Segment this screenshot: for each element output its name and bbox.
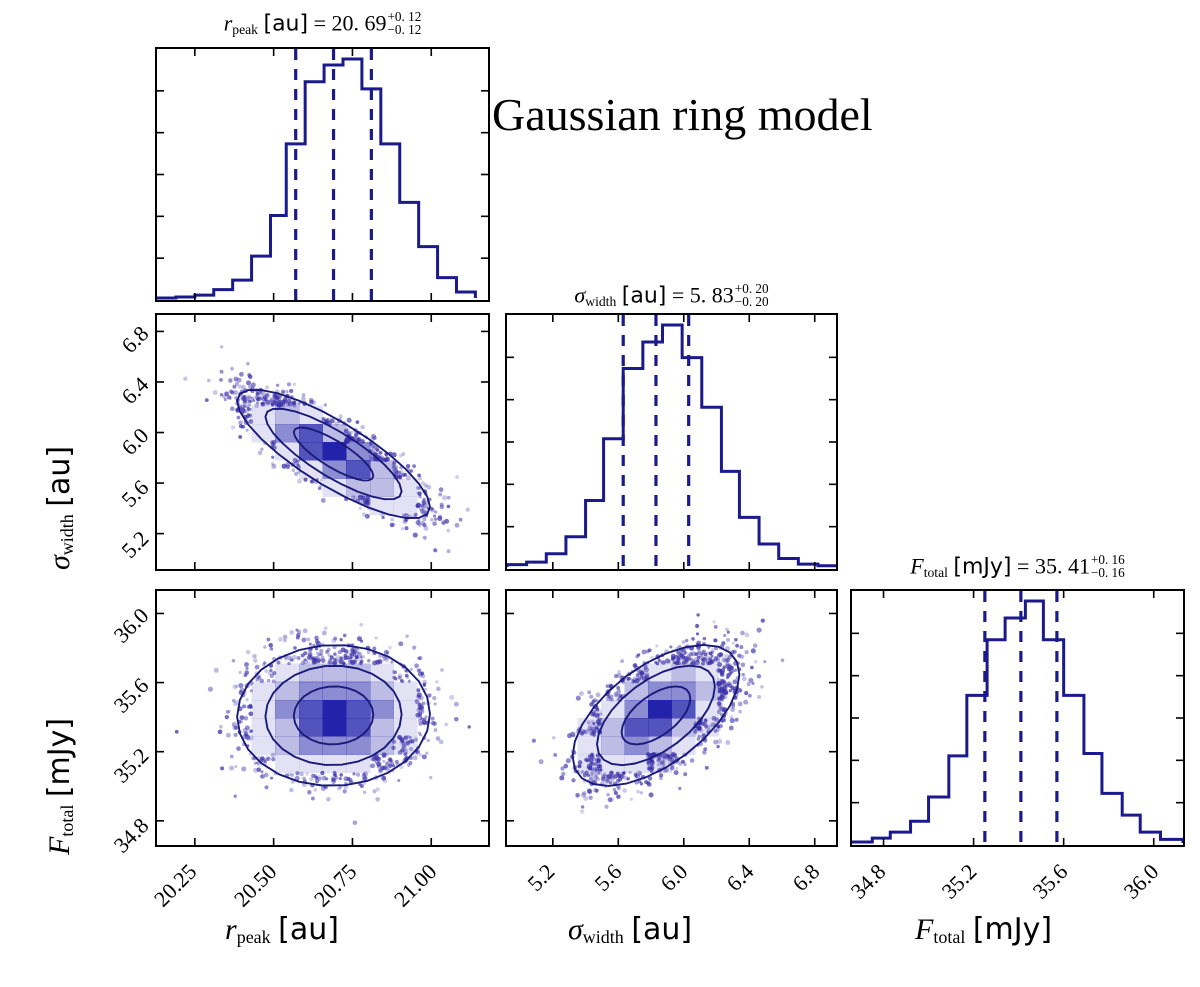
title-equals: = (314, 11, 326, 36)
title-err-plus: +0. 20 (735, 282, 769, 295)
title-err-plus: +0. 16 (1091, 553, 1125, 566)
figure-main-title: Gaussian ring model (492, 88, 873, 141)
panel-title-r-peak: rpeak [au] = 20. 69+0. 12−0. 12 (155, 10, 490, 37)
title-err-plus: +0. 12 (388, 10, 422, 23)
title-equals: = (672, 283, 684, 308)
title-uncertainty: +0. 20−0. 20 (735, 282, 769, 309)
title-value: 5. 83 (690, 283, 734, 308)
title-value: 35. 41 (1035, 554, 1090, 579)
title-equals: = (1017, 554, 1029, 579)
title-uncertainty: +0. 16−0. 16 (1091, 553, 1125, 580)
title-err-minus: −0. 16 (1091, 566, 1125, 579)
title-value: 20. 69 (332, 11, 387, 36)
histogram-panel-f-total (850, 589, 1185, 847)
joint-panel-r-peak-vs-sigma-width (155, 313, 490, 571)
histogram-panel-sigma-width (505, 313, 838, 571)
title-subscript-peak: peak (232, 22, 258, 37)
title-err-minus: −0. 12 (388, 23, 422, 36)
title-symbol-sigma: σ (574, 283, 585, 308)
title-unit-au: [au] (622, 284, 667, 309)
panel-title-sigma-width: σwidth [au] = 5. 83+0. 20−0. 20 (505, 282, 838, 309)
title-uncertainty: +0. 12−0. 12 (388, 10, 422, 37)
xlabel-subscript-total: total (933, 927, 965, 947)
histogram-panel-r-peak (155, 47, 490, 302)
title-unit-mjy: [mJy] (953, 555, 1011, 580)
title-err-minus: −0. 20 (735, 295, 769, 308)
panel-title-f-total: Ftotal [mJy] = 35. 41+0. 16−0. 16 (850, 553, 1185, 580)
joint-panel-r-peak-vs-f-total (155, 589, 490, 847)
corner-plot-figure: Gaussian ring model rpeak [au] = 20. 69+… (0, 0, 1200, 987)
title-unit-au: [au] (263, 12, 308, 37)
title-subscript-total: total (924, 565, 948, 580)
title-symbol-f: F (910, 554, 923, 579)
title-subscript-width: width (585, 294, 616, 309)
joint-panel-sigma-width-vs-f-total (505, 589, 838, 847)
title-symbol-r: r (224, 11, 233, 36)
